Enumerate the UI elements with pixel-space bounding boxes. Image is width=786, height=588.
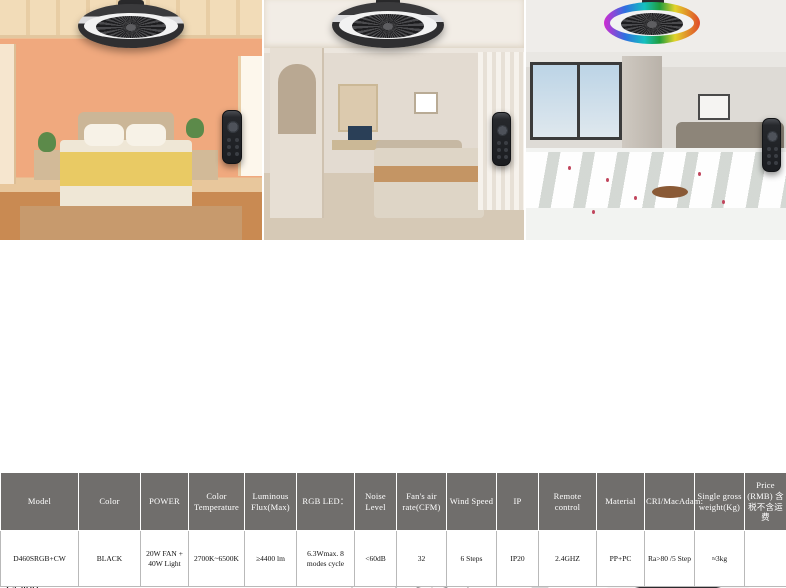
specification-table-wrapper: Model Color POWER Color Temperature Lumi… (0, 472, 786, 588)
cell-color: BLACK (79, 531, 141, 587)
remote-dial (227, 121, 239, 133)
remote-button (497, 141, 501, 145)
laptop-shape (348, 126, 372, 140)
ceiling-fan-product (332, 2, 444, 48)
cell-power: 20W FAN + 40W Light (141, 531, 189, 587)
column-header-remote-control: Remote control (539, 473, 597, 531)
column-header-price: Price (RMB) 含税不含运费 (745, 473, 786, 531)
cell-material: PP+PC (597, 531, 645, 587)
plant-shape (38, 132, 56, 152)
bed-shape (374, 148, 484, 218)
remote-button (227, 145, 231, 149)
remote-button (774, 161, 778, 165)
cell-remote-control: 2.4GHZ (539, 531, 597, 587)
column-header-model: Model (1, 473, 79, 531)
remote-control-overlay (762, 118, 781, 172)
wall-art-shape (698, 94, 730, 120)
cell-ip: IP20 (497, 531, 539, 587)
remote-button (235, 138, 239, 142)
bed-blanket-shape (374, 166, 484, 182)
rug-shape (20, 206, 242, 240)
cell-luminous-flux: ≥4400 lm (245, 531, 297, 587)
remote-control-overlay (222, 110, 242, 164)
remote-button (774, 147, 778, 151)
remote-button (504, 148, 508, 152)
column-header-material: Material (597, 473, 645, 531)
remote-dial (497, 125, 508, 136)
pillow-shape (126, 124, 166, 146)
remote-button (504, 155, 508, 159)
wall-art-shape (414, 92, 438, 114)
petal-shape (634, 196, 637, 200)
fan-center-cap (383, 23, 393, 30)
table-row: D460SRGB+CW BLACK 20W FAN + 40W Light 27… (1, 531, 786, 587)
column-header-rgb-led: RGB LED： (297, 473, 355, 531)
photo-bedroom-peach (0, 0, 262, 240)
petal-shape (722, 200, 725, 204)
cell-price (745, 531, 786, 587)
ceiling-fan-product (78, 4, 184, 48)
column-header-color-temperature: Color Temperature (189, 473, 245, 531)
petal-shape (592, 210, 595, 214)
ceiling-fan-product-rgb (604, 2, 700, 44)
photo-bedroom-beige (262, 0, 524, 240)
bed-linen-shape (526, 152, 786, 208)
shelf-shape (338, 84, 378, 132)
nightstand-shape (192, 150, 218, 180)
column-header-ip: IP (497, 473, 539, 531)
cell-fan-air-rate: 32 (397, 531, 447, 587)
remote-button (767, 154, 771, 158)
plant-shape (186, 118, 204, 138)
specification-table: Model Color POWER Color Temperature Lumi… (0, 472, 786, 587)
cell-gross-weight: ≈3kg (695, 531, 745, 587)
remote-button (497, 148, 501, 152)
column-header-wind-speed: Wind Speed (447, 473, 497, 531)
remote-button (235, 152, 239, 156)
column-header-power: POWER (141, 473, 189, 531)
window-shape (530, 62, 622, 140)
petal-shape (568, 166, 571, 170)
cell-noise-level: <60dB (355, 531, 397, 587)
remote-button (504, 141, 508, 145)
petal-shape (698, 172, 701, 176)
photo-bedroom-cityview (524, 0, 786, 240)
spec-sheet-page: Feature: Feature: Flat Fan Ceiling 20W+4… (0, 0, 786, 588)
nightstand-shape (34, 150, 60, 180)
door-shape (0, 44, 16, 184)
remote-button (497, 155, 501, 159)
cell-color-temperature: 2700K~6500K (189, 531, 245, 587)
cell-cri-macadam: Ra>80 /5 Step (645, 531, 695, 587)
remote-button (767, 147, 771, 151)
remote-button (227, 152, 231, 156)
column-header-gross-weight: Single gross weight(Kg) (695, 473, 745, 531)
bed-throw-shape (60, 152, 192, 186)
fan-center-cap (647, 21, 657, 28)
feature-section: Feature: Feature: Flat Fan Ceiling 20W+4… (0, 240, 786, 472)
remote-button (227, 138, 231, 142)
remote-button (767, 161, 771, 165)
fan-center-cap (126, 24, 136, 31)
cell-wind-speed: 6 Steps (447, 531, 497, 587)
column-header-fan-air-rate: Fan's air rate(CFM) (397, 473, 447, 531)
petal-shape (606, 178, 609, 182)
column-header-noise-level: Noise Level (355, 473, 397, 531)
table-header-row: Model Color POWER Color Temperature Lumi… (1, 473, 786, 531)
product-photo-strip (0, 0, 786, 240)
remote-control-overlay (492, 112, 511, 166)
cell-model: D460SRGB+CW (1, 531, 79, 587)
column-header-luminous-flux: Luminous Flux(Max) (245, 473, 297, 531)
pillow-shape (84, 124, 124, 146)
column-header-cri-macadam: CRI/MacAdam: (645, 473, 695, 531)
tray-shape (652, 186, 688, 198)
column-header-color: Color (79, 473, 141, 531)
remote-button (774, 154, 778, 158)
remote-dial (767, 131, 778, 142)
remote-button (235, 145, 239, 149)
wall-niche-shape (278, 64, 316, 134)
cell-rgb-led: 6.3Wmax. 8 modes cycle (297, 531, 355, 587)
